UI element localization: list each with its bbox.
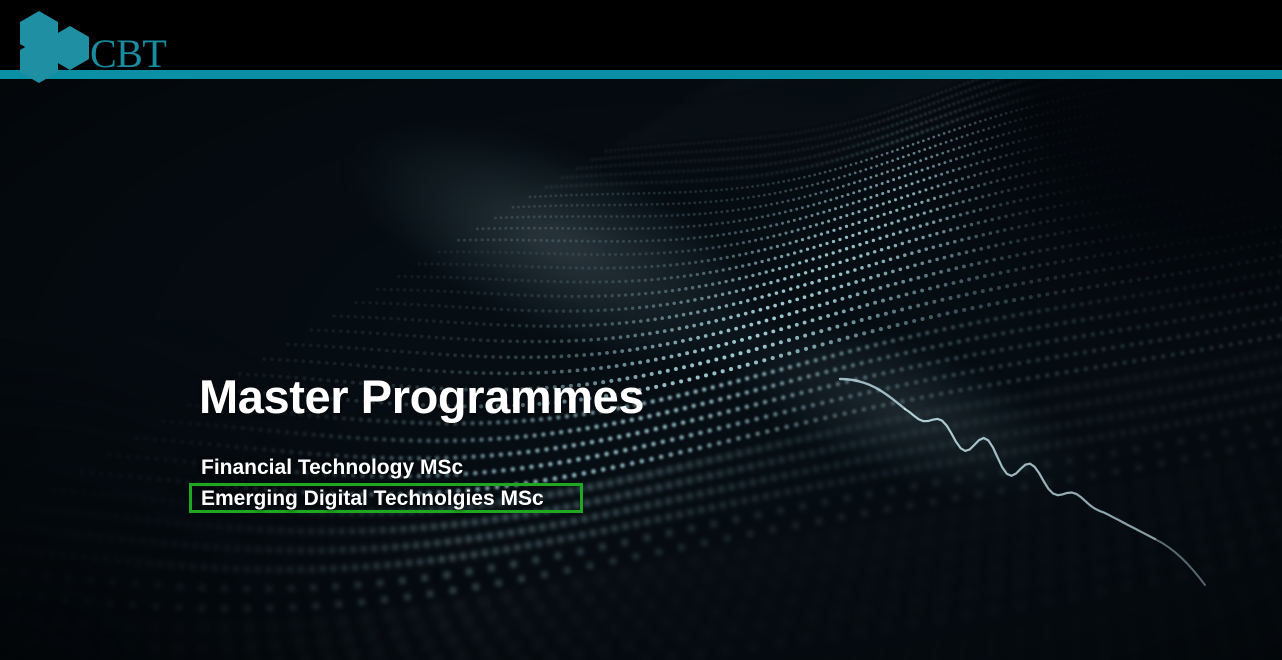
highlight-annotation-box: Emerging Digital Technolgies MSc xyxy=(189,483,583,513)
page-root: CBT Master Programmes Financial Technolo… xyxy=(0,0,1282,660)
page-title: Master Programmes xyxy=(199,372,644,421)
site-logo[interactable]: CBT xyxy=(18,8,218,68)
site-header: CBT xyxy=(0,0,1282,70)
hexagon-middle-right-icon xyxy=(49,25,91,71)
programme-link-emerging-digital-technologies[interactable]: Emerging Digital Technolgies MSc xyxy=(192,488,544,509)
hero-heading-block: Master Programmes xyxy=(199,372,644,421)
programme-list: Financial Technology MSc Emerging Digita… xyxy=(199,455,463,478)
brand-name: CBT xyxy=(90,34,166,74)
programme-link-financial-technology[interactable]: Financial Technology MSc xyxy=(201,455,463,478)
header-accent-rule xyxy=(0,70,1282,79)
